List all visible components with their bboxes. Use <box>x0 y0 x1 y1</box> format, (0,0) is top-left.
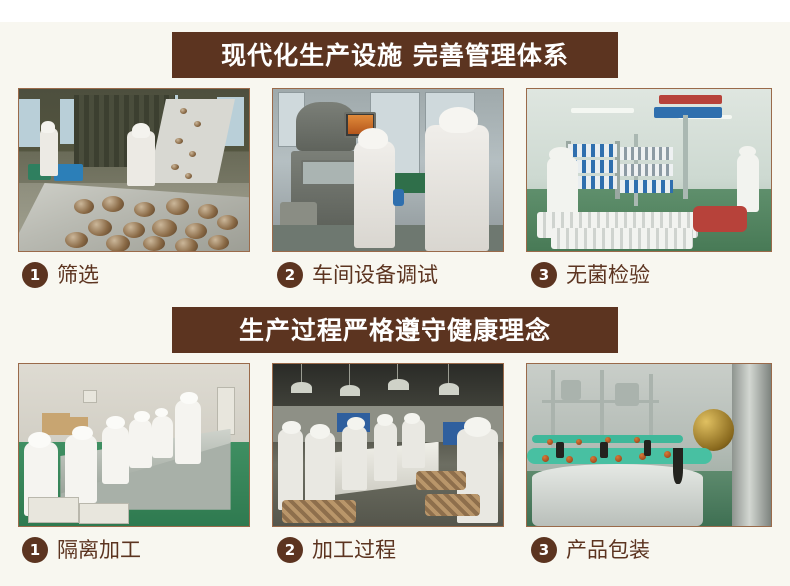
product-detail-page: 现代化生产设施 完善管理体系 <box>0 0 790 586</box>
photo-image <box>527 89 771 251</box>
caption-label: 筛选 <box>57 265 99 286</box>
top-white-strip <box>0 0 790 22</box>
caption-label: 无菌检验 <box>566 265 650 286</box>
photo-image <box>273 89 503 251</box>
photo-image <box>19 364 249 526</box>
section-banner-1-title: 现代化生产设施 完善管理体系 <box>221 43 569 68</box>
caption-item-sterile-inspection: 3 无菌检验 <box>531 257 650 293</box>
caption-row-2: 1 隔离加工 2 加工过程 3 产品包装 <box>0 532 790 568</box>
photo-image <box>19 89 249 251</box>
caption-label: 产品包装 <box>566 540 650 561</box>
photo-mushroom-sorting-line[interactable] <box>18 88 250 252</box>
caption-label: 隔离加工 <box>57 540 141 561</box>
photo-processing-hall-workers[interactable] <box>272 363 504 527</box>
photo-row-2 <box>0 363 790 527</box>
section-banner-2: 生产过程严格遵守健康理念 <box>172 307 618 353</box>
step-number-badge: 3 <box>531 262 557 288</box>
caption-item-processing-procedure: 2 加工过程 <box>277 532 396 568</box>
photo-row-1 <box>0 88 790 252</box>
photo-workshop-equipment-debugging[interactable] <box>272 88 504 252</box>
caption-label: 加工过程 <box>312 540 396 561</box>
step-number-badge: 2 <box>277 537 303 563</box>
caption-row-1: 1 筛选 2 车间设备调试 3 无菌检验 <box>0 257 790 293</box>
caption-item-isolated-processing: 1 隔离加工 <box>22 532 141 568</box>
step-number-badge: 1 <box>22 262 48 288</box>
caption-item-screening: 1 筛选 <box>22 257 99 293</box>
photo-product-packaging-machine[interactable] <box>526 363 772 527</box>
caption-item-product-packaging: 3 产品包装 <box>531 532 650 568</box>
photo-image <box>273 364 503 526</box>
photo-isolated-processing-conveyor[interactable] <box>18 363 250 527</box>
step-number-badge: 3 <box>531 537 557 563</box>
step-number-badge: 2 <box>277 262 303 288</box>
caption-label: 车间设备调试 <box>312 265 438 286</box>
section-banner-1: 现代化生产设施 完善管理体系 <box>172 32 618 78</box>
step-number-badge: 1 <box>22 537 48 563</box>
caption-item-equipment-debugging: 2 车间设备调试 <box>277 257 438 293</box>
photo-image <box>527 364 771 526</box>
section-banner-2-title: 生产过程严格遵守健康理念 <box>239 318 551 343</box>
photo-sterile-inspection-room[interactable] <box>526 88 772 252</box>
